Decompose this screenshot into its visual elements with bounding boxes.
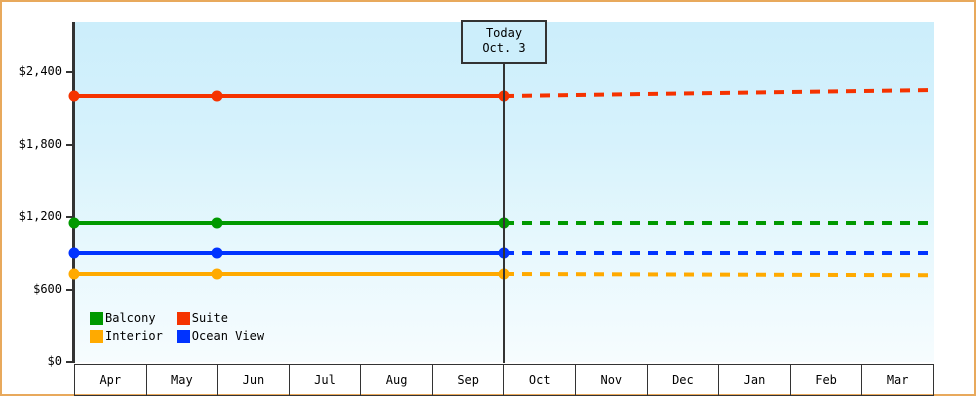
y-tick-label: $0 bbox=[48, 354, 62, 368]
month-cell-nov[interactable]: Nov bbox=[576, 365, 648, 396]
series-line-actual-balcony bbox=[74, 221, 504, 225]
data-point-marker[interactable] bbox=[69, 91, 80, 102]
y-tick bbox=[66, 144, 73, 146]
y-tick bbox=[66, 71, 73, 73]
y-tick-label: $600 bbox=[33, 282, 62, 296]
legend-label: Ocean View bbox=[192, 329, 264, 343]
month-cell-sep[interactable]: Sep bbox=[432, 365, 504, 396]
data-point-marker[interactable] bbox=[212, 248, 223, 259]
legend-label: Suite bbox=[192, 311, 228, 325]
y-tick bbox=[66, 289, 73, 291]
month-axis: AprMayJunJulAugSepOctNovDecJanFebMar bbox=[74, 364, 934, 396]
series-line-forecast-ocean-view bbox=[504, 251, 934, 255]
data-point-marker[interactable] bbox=[212, 218, 223, 229]
month-cell-mar[interactable]: Mar bbox=[862, 365, 934, 396]
today-date: Oct. 3 bbox=[473, 41, 535, 56]
y-tick-label: $1,200 bbox=[19, 209, 62, 223]
y-tick bbox=[66, 361, 73, 363]
month-cell-feb[interactable]: Feb bbox=[790, 365, 862, 396]
month-cell-may[interactable]: May bbox=[146, 365, 218, 396]
data-point-marker[interactable] bbox=[69, 218, 80, 229]
series-line-actual-suite bbox=[74, 94, 504, 98]
today-annotation-box: Today Oct. 3 bbox=[461, 20, 547, 64]
data-point-marker[interactable] bbox=[69, 268, 80, 279]
data-point-marker[interactable] bbox=[212, 91, 223, 102]
month-cell-jun[interactable]: Jun bbox=[218, 365, 290, 396]
legend-entry-suite[interactable]: Suite bbox=[177, 311, 264, 325]
y-axis-line bbox=[72, 22, 75, 363]
chart-legend: BalconySuiteInteriorOcean View bbox=[90, 311, 264, 343]
series-line-actual-interior bbox=[74, 272, 504, 276]
chart-frame: $2,400$1,800$1,200$600$0 Today Oct. 3 Ba… bbox=[0, 0, 976, 396]
data-point-marker[interactable] bbox=[212, 268, 223, 279]
series-line-forecast-balcony bbox=[504, 221, 934, 225]
legend-label: Balcony bbox=[105, 311, 156, 325]
y-tick-label: $2,400 bbox=[19, 64, 62, 78]
month-cell-apr[interactable]: Apr bbox=[75, 365, 147, 396]
series-line-actual-ocean-view bbox=[74, 251, 504, 255]
month-cell-oct[interactable]: Oct bbox=[504, 365, 576, 396]
month-cell-dec[interactable]: Dec bbox=[647, 365, 719, 396]
legend-color-swatch bbox=[177, 330, 190, 343]
today-vertical-line bbox=[503, 22, 505, 363]
legend-color-swatch bbox=[177, 312, 190, 325]
month-cell-jan[interactable]: Jan bbox=[719, 365, 791, 396]
today-label: Today bbox=[473, 26, 535, 41]
month-cell-aug[interactable]: Aug bbox=[361, 365, 433, 396]
legend-entry-ocean-view[interactable]: Ocean View bbox=[177, 329, 264, 343]
legend-entry-balcony[interactable]: Balcony bbox=[90, 311, 163, 325]
legend-entry-interior[interactable]: Interior bbox=[90, 329, 163, 343]
legend-label: Interior bbox=[105, 329, 163, 343]
legend-color-swatch bbox=[90, 312, 103, 325]
month-axis-row: AprMayJunJulAugSepOctNovDecJanFebMar bbox=[75, 365, 934, 396]
legend-color-swatch bbox=[90, 330, 103, 343]
month-cell-jul[interactable]: Jul bbox=[289, 365, 361, 396]
data-point-marker[interactable] bbox=[69, 248, 80, 259]
y-tick-label: $1,800 bbox=[19, 137, 62, 151]
